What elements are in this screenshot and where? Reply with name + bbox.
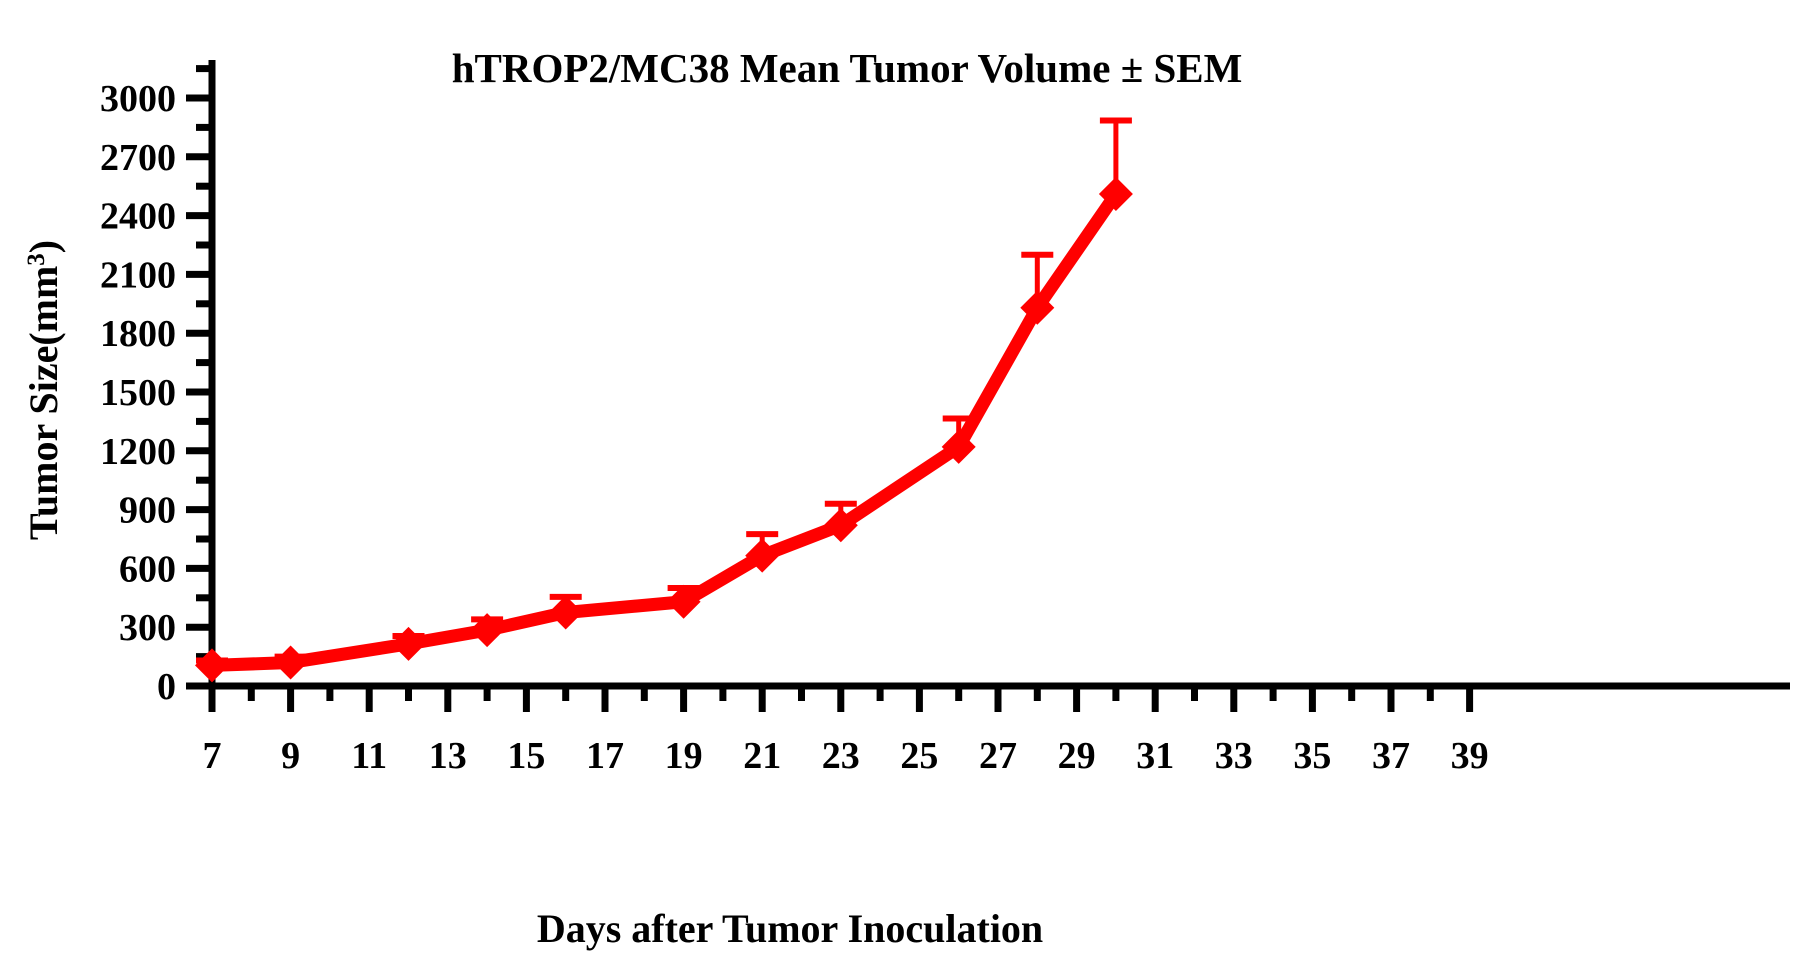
y-tick-label: 1800 bbox=[100, 313, 176, 355]
x-tick-label: 17 bbox=[586, 735, 624, 777]
y-tick-label: 2100 bbox=[100, 254, 176, 296]
y-tick-label: 300 bbox=[119, 607, 176, 649]
x-tick-label: 25 bbox=[900, 735, 938, 777]
y-axis-title-close: ) bbox=[21, 240, 66, 253]
x-tick-label: 23 bbox=[822, 735, 860, 777]
chart-root: hTROP2/MC38 Mean Tumor Volume ± SEM Tumo… bbox=[0, 0, 1802, 978]
y-axis-title: Tumor Size(mm3) bbox=[21, 240, 66, 540]
chart-title: hTROP2/MC38 Mean Tumor Volume ± SEM bbox=[452, 45, 1243, 91]
y-tick-label: 2400 bbox=[100, 196, 176, 238]
y-axis-title-superscript: 3 bbox=[23, 253, 50, 266]
tumor-growth-chart: hTROP2/MC38 Mean Tumor Volume ± SEM Tumo… bbox=[0, 0, 1802, 978]
x-tick-label: 33 bbox=[1215, 735, 1253, 777]
y-tick-label: 0 bbox=[157, 666, 176, 708]
x-tick-label: 21 bbox=[743, 735, 781, 777]
x-tick-label: 19 bbox=[665, 735, 703, 777]
y-axis-title-group: Tumor Size(mm3) bbox=[21, 240, 66, 540]
x-tick-label: 29 bbox=[1058, 735, 1096, 777]
x-tick-label: 27 bbox=[979, 735, 1017, 777]
x-tick-label: 15 bbox=[507, 735, 545, 777]
y-tick-label: 900 bbox=[119, 490, 176, 532]
y-tick-label: 1200 bbox=[100, 431, 176, 473]
x-tick-label: 31 bbox=[1136, 735, 1174, 777]
x-tick-label: 39 bbox=[1451, 735, 1489, 777]
x-tick-label: 11 bbox=[351, 735, 387, 777]
x-tick-label: 37 bbox=[1372, 735, 1410, 777]
y-tick-label: 600 bbox=[119, 548, 176, 590]
x-tick-label: 13 bbox=[429, 735, 467, 777]
x-tick-label: 9 bbox=[281, 735, 300, 777]
x-tick-label: 7 bbox=[203, 735, 222, 777]
y-tick-label: 1500 bbox=[100, 372, 176, 414]
y-tick-label: 2700 bbox=[100, 137, 176, 179]
x-axis-title: Days after Tumor Inoculation bbox=[537, 906, 1043, 951]
x-tick-label: 35 bbox=[1293, 735, 1331, 777]
y-tick-label: 3000 bbox=[100, 78, 176, 120]
y-axis-title-main: Tumor Size(mm bbox=[21, 266, 66, 540]
